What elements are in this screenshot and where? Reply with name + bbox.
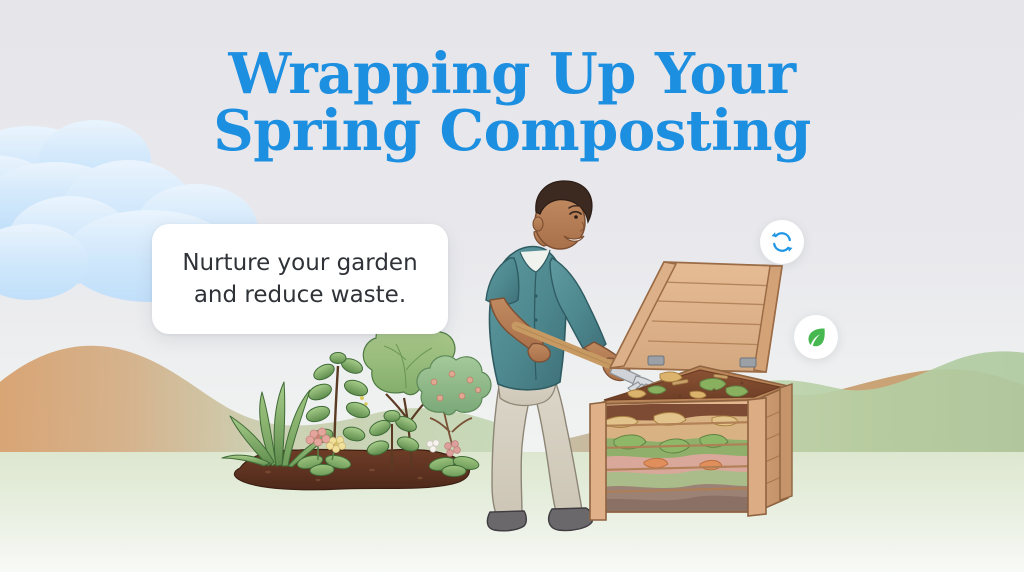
- recycle-arrows-icon: [769, 229, 795, 255]
- bin-front-panel: [596, 400, 762, 514]
- recycle-badge[interactable]: [760, 220, 804, 264]
- bin-lid: [610, 262, 782, 372]
- subtitle-text: Nurture your garden and reduce waste.: [182, 247, 417, 311]
- compost-layers: [596, 404, 762, 514]
- subtitle-line-1: Nurture your garden: [182, 247, 417, 279]
- leaf-badge[interactable]: [794, 315, 838, 359]
- subtitle-line-2: and reduce waste.: [182, 279, 417, 311]
- leaf-icon: [804, 325, 828, 349]
- subtitle-card: Nurture your garden and reduce waste.: [152, 224, 448, 334]
- hero-illustration-scene: Wrapping Up Your Spring Composting Nurtu…: [0, 0, 1024, 572]
